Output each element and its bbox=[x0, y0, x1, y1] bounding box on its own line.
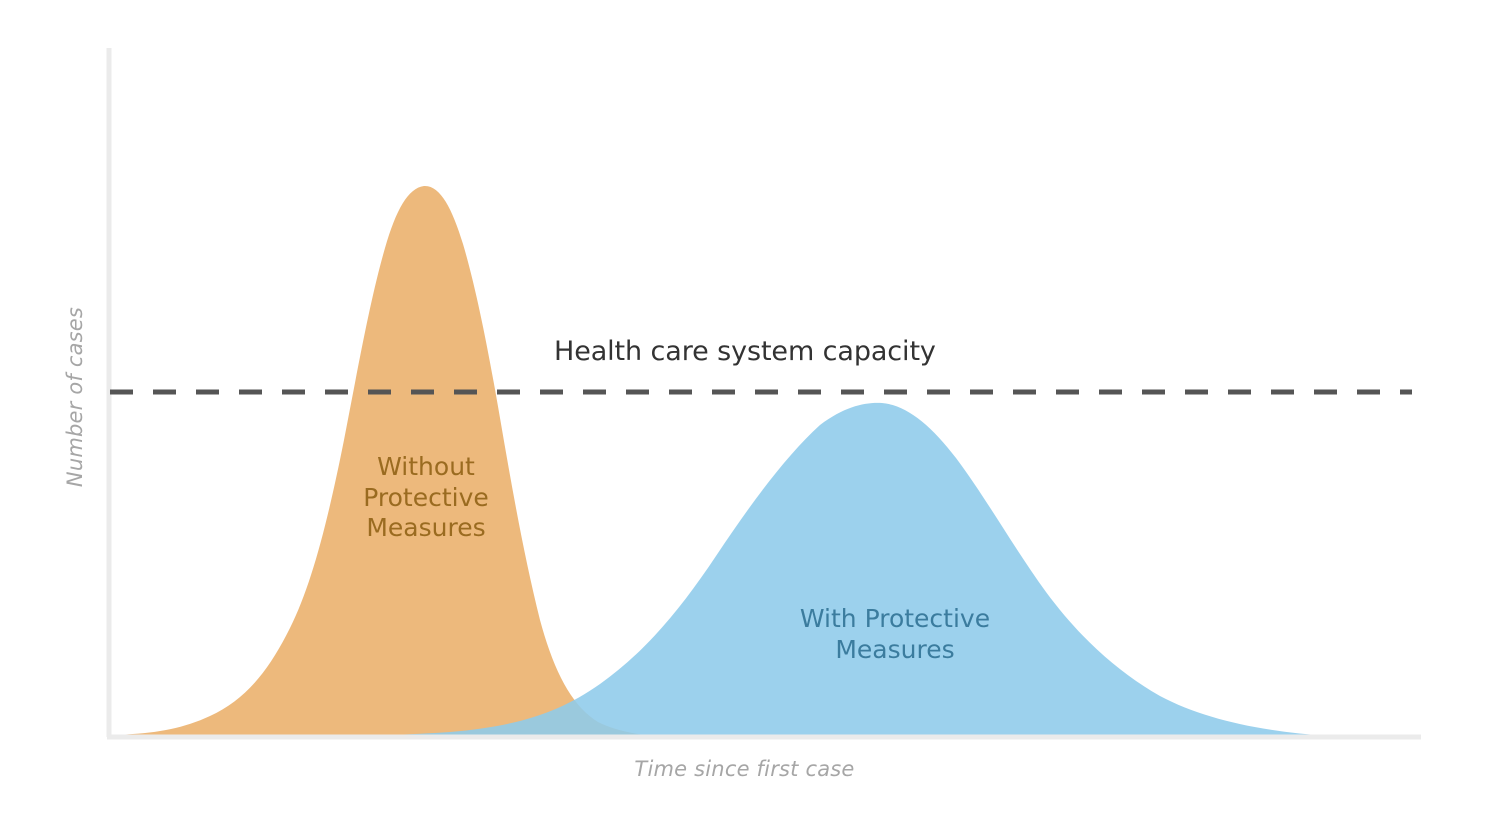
flatten-the-curve-chart: Health care system capacity Without Prot… bbox=[0, 0, 1489, 837]
x-axis-label: Time since first case bbox=[0, 757, 1489, 781]
without-protective-measures-label: Without Protective Measures bbox=[296, 452, 556, 544]
chart-plot-area bbox=[0, 0, 1489, 837]
with-protective-measures-label: With Protective Measures bbox=[760, 604, 1030, 665]
capacity-line-label: Health care system capacity bbox=[554, 336, 936, 367]
y-axis-label: Number of cases bbox=[63, 267, 87, 527]
